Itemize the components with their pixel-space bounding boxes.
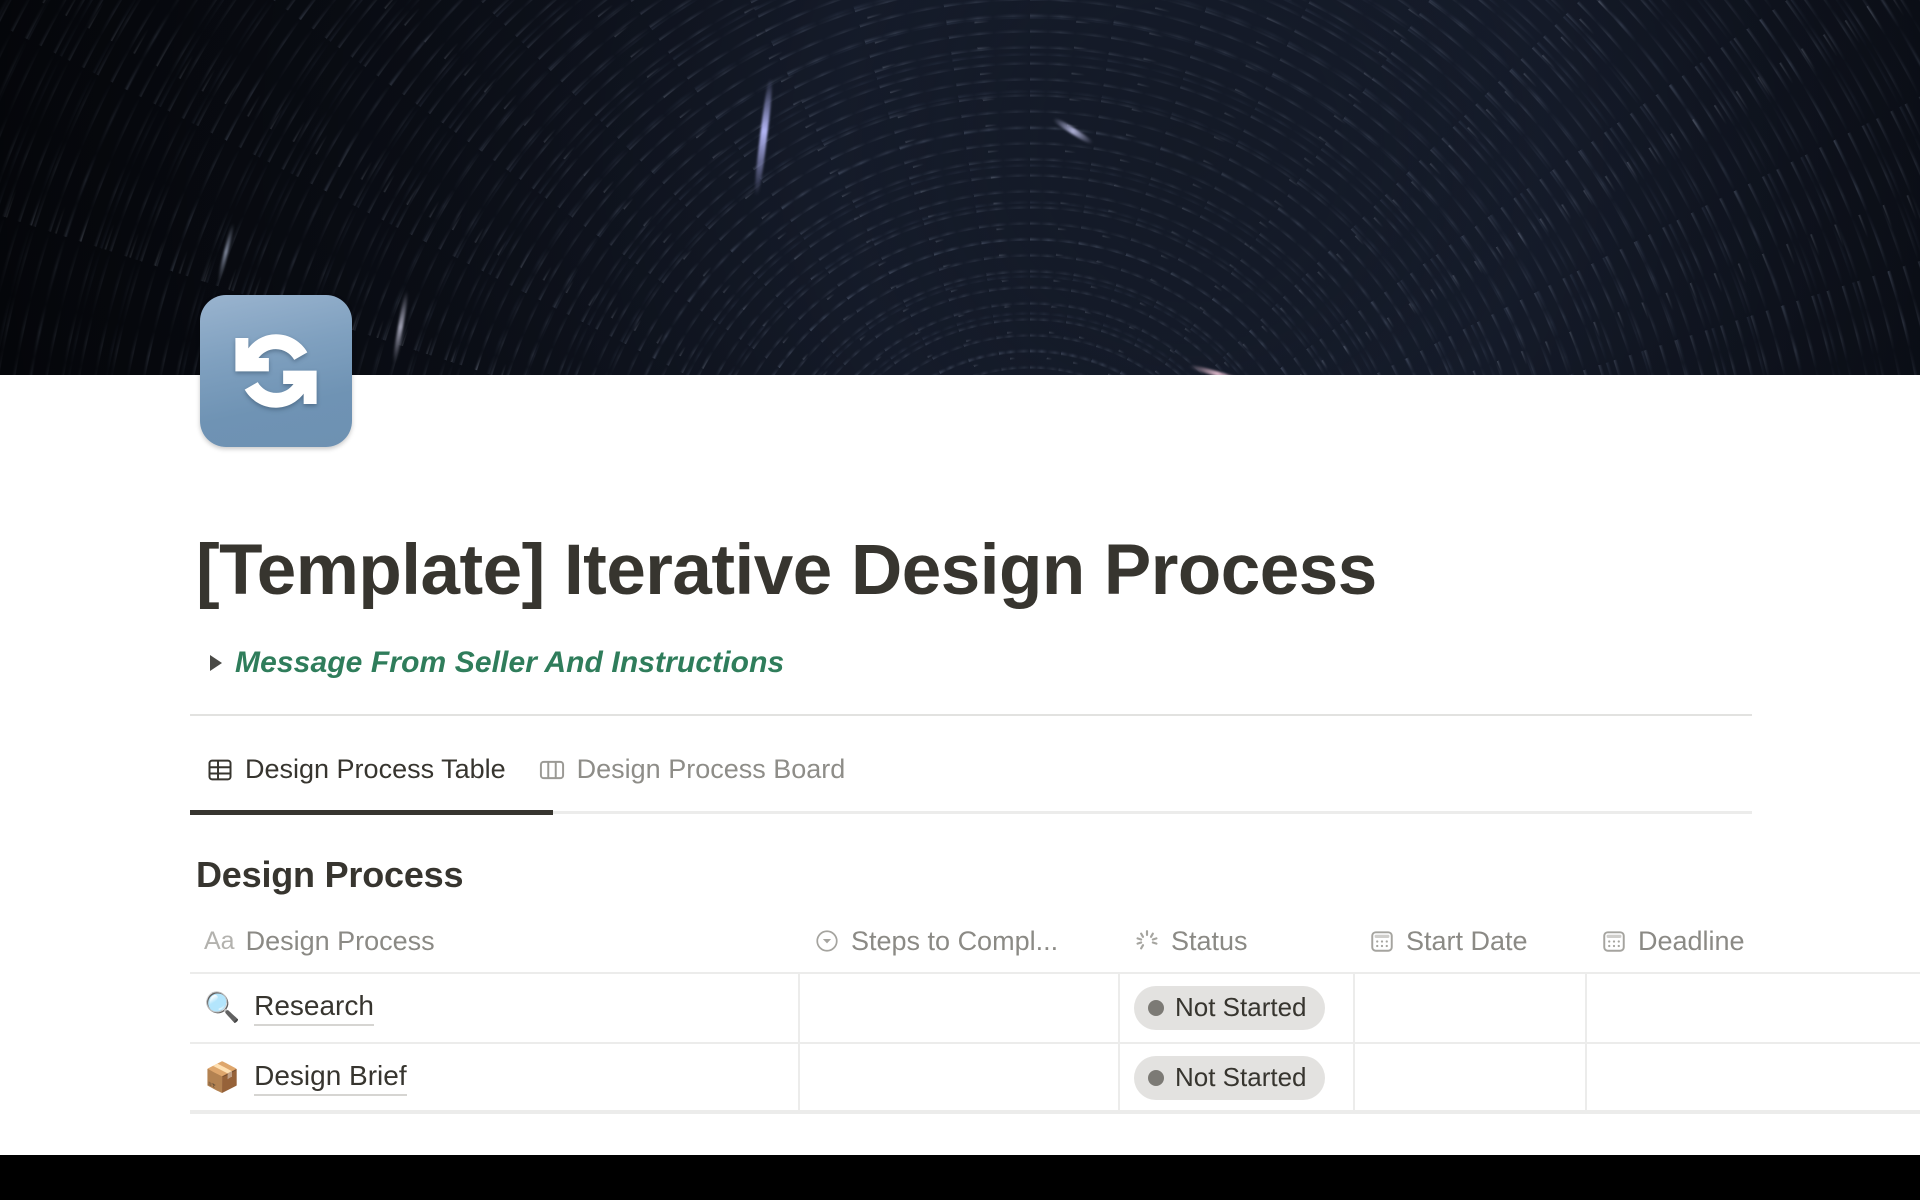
- column-header-label: Steps to Compl...: [851, 926, 1058, 957]
- divider: [190, 714, 1752, 716]
- cell-deadline[interactable]: [1587, 1044, 1920, 1112]
- table-grid-icon: [206, 756, 234, 784]
- table-row[interactable]: 📦 Design Brief Not Started: [190, 1044, 1920, 1114]
- select-chevron-circle-icon: [814, 928, 840, 954]
- column-header-label: Start Date: [1406, 926, 1528, 957]
- table-row[interactable]: 🔍 Research Not Started: [190, 974, 1920, 1044]
- tab-label: Design Process Table: [245, 754, 506, 785]
- cell-start-date[interactable]: [1355, 1044, 1587, 1112]
- cell-steps-to-complete[interactable]: [800, 974, 1120, 1042]
- toggle-block-label: Message From Seller And Instructions: [235, 646, 784, 680]
- column-header-status[interactable]: Status: [1120, 910, 1355, 972]
- tab-label: Design Process Board: [577, 754, 846, 785]
- row-title-link[interactable]: Research: [254, 990, 374, 1026]
- column-header-label: Status: [1171, 926, 1248, 957]
- status-badge[interactable]: Not Started: [1134, 986, 1325, 1030]
- tab-design-process-table[interactable]: Design Process Table: [190, 754, 522, 799]
- page-title[interactable]: [Template] Iterative Design Process: [196, 530, 1377, 611]
- column-header-design-process[interactable]: Aa Design Process: [190, 910, 800, 972]
- column-header-label: Deadline: [1638, 926, 1745, 957]
- status-badge[interactable]: Not Started: [1134, 1056, 1325, 1100]
- table-header-row: Aa Design Process Steps to Compl...: [190, 910, 1920, 974]
- cell-steps-to-complete[interactable]: [800, 1044, 1120, 1112]
- status-dot-icon: [1148, 1070, 1164, 1086]
- database-title[interactable]: Design Process: [196, 854, 463, 896]
- triangle-right-icon[interactable]: [210, 655, 222, 671]
- cell-design-process[interactable]: 🔍 Research: [190, 974, 800, 1042]
- title-aa-icon: Aa: [204, 927, 235, 956]
- tab-active-underline: [190, 810, 553, 815]
- status-label: Not Started: [1175, 1062, 1307, 1093]
- page-root: [Template] Iterative Design Process Mess…: [0, 0, 1920, 1200]
- calendar-icon: [1369, 928, 1395, 954]
- package-box-icon: 📦: [204, 1064, 240, 1093]
- magnifying-glass-icon: 🔍: [204, 994, 240, 1023]
- table-bottom-border: [190, 1110, 1920, 1112]
- column-header-label: Design Process: [246, 926, 435, 957]
- status-dot-icon: [1148, 1000, 1164, 1016]
- column-header-start-date[interactable]: Start Date: [1355, 910, 1587, 972]
- bottom-bar: [0, 1155, 1920, 1200]
- cell-deadline[interactable]: [1587, 974, 1920, 1042]
- database-table: Aa Design Process Steps to Compl...: [190, 910, 1920, 1114]
- cell-status[interactable]: Not Started: [1120, 1044, 1355, 1112]
- status-label: Not Started: [1175, 992, 1307, 1023]
- refresh-sync-icon[interactable]: [200, 295, 352, 447]
- status-spinner-icon: [1134, 928, 1160, 954]
- calendar-icon: [1601, 928, 1627, 954]
- view-tabs: Design Process Table Design Process Boar…: [190, 754, 861, 799]
- board-columns-icon: [538, 756, 566, 784]
- toggle-block-message-from-seller[interactable]: Message From Seller And Instructions: [196, 646, 784, 680]
- cell-design-process[interactable]: 📦 Design Brief: [190, 1044, 800, 1112]
- cell-start-date[interactable]: [1355, 974, 1587, 1042]
- column-header-steps-to-complete[interactable]: Steps to Compl...: [800, 910, 1120, 972]
- column-header-deadline[interactable]: Deadline: [1587, 910, 1920, 972]
- cell-status[interactable]: Not Started: [1120, 974, 1355, 1042]
- row-title-link[interactable]: Design Brief: [254, 1060, 407, 1096]
- tab-design-process-board[interactable]: Design Process Board: [522, 754, 862, 799]
